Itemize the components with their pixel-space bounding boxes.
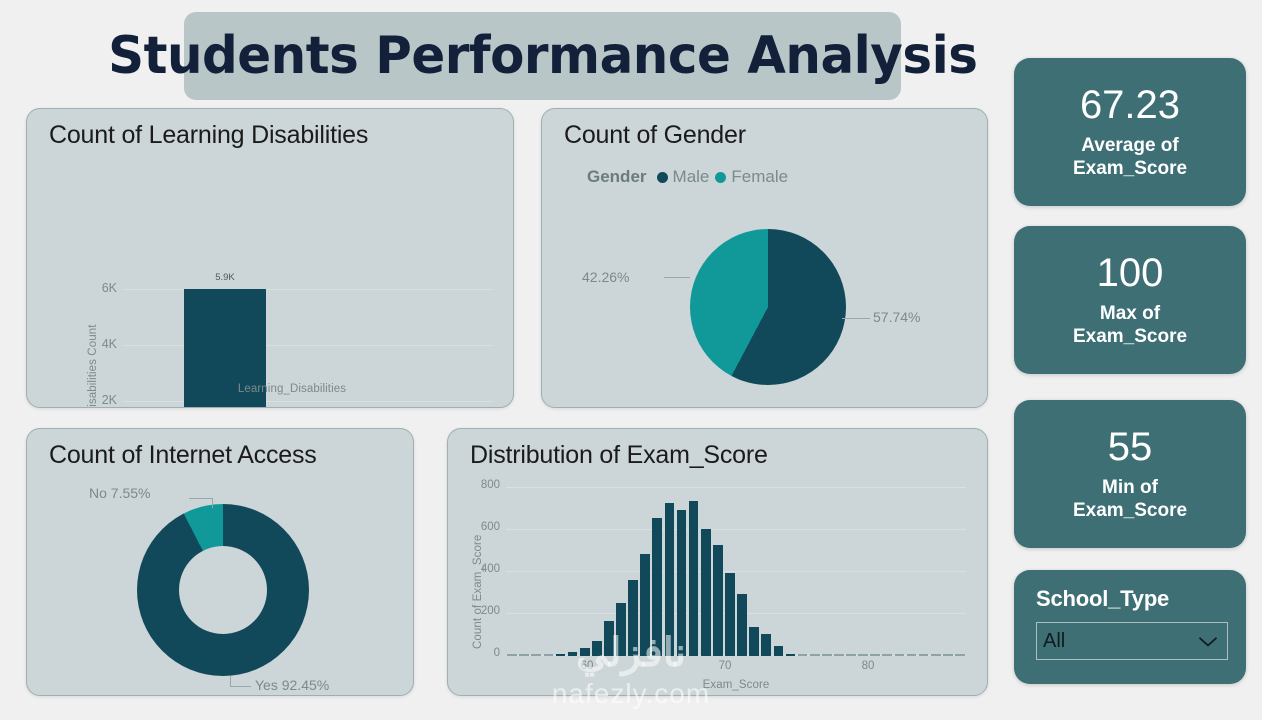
- histogram-bar[interactable]: [810, 654, 820, 656]
- slicer-field-label: School_Type: [1036, 586, 1228, 612]
- pie-data-label-male: 57.74%: [873, 309, 920, 325]
- legend-swatch-icon: [715, 172, 726, 183]
- leader-line: [230, 686, 251, 687]
- histogram-bar[interactable]: [556, 654, 566, 656]
- histogram-bar[interactable]: [713, 545, 723, 656]
- donut-hole: [179, 546, 267, 634]
- slicer-school-type[interactable]: School_Type All: [1014, 570, 1246, 684]
- y-tick: 400: [458, 563, 500, 575]
- pie-chart-graphic[interactable]: [690, 229, 846, 385]
- kpi-label-line1: Min of: [1073, 476, 1187, 499]
- legend-swatch-icon: [657, 172, 668, 183]
- histogram-bar[interactable]: [568, 652, 578, 656]
- legend-title: Gender: [587, 167, 647, 187]
- histogram-bar[interactable]: [701, 529, 711, 656]
- x-tick: 60: [567, 660, 607, 672]
- histogram-bar[interactable]: [628, 580, 638, 656]
- histogram-bar[interactable]: [580, 648, 590, 656]
- y-tick: 0: [458, 647, 500, 659]
- leader-line: [664, 277, 690, 278]
- legend-label: Female: [731, 167, 788, 187]
- gridline: [123, 345, 493, 346]
- kpi-label: Max of Exam_Score: [1073, 302, 1187, 348]
- histogram-bar[interactable]: [870, 654, 880, 656]
- histogram-bar[interactable]: [919, 654, 929, 656]
- kpi-value: 55: [1108, 426, 1153, 468]
- y-tick: 600: [458, 521, 500, 533]
- histogram-bar[interactable]: [774, 646, 784, 656]
- leader-line: [842, 318, 870, 319]
- report-title-banner: Students Performance Analysis: [184, 12, 901, 100]
- kpi-label-line1: Average of: [1073, 134, 1187, 157]
- x-axis-title: Exam_Score: [506, 679, 966, 691]
- histogram-bar[interactable]: [798, 654, 808, 656]
- histogram-bar[interactable]: [834, 654, 844, 656]
- bar-data-label: 5.9K: [184, 272, 266, 283]
- y-axis-title: Count of Exam_Score: [472, 535, 484, 649]
- histogram-bar[interactable]: [519, 654, 529, 656]
- x-tick: 70: [705, 660, 745, 672]
- visual-exam-score-histogram[interactable]: Distribution of Exam_Score Count of Exam…: [447, 428, 988, 696]
- legend-item-female[interactable]: Female: [715, 167, 788, 187]
- histogram-bar[interactable]: [846, 654, 856, 656]
- histogram-bar[interactable]: [531, 654, 541, 656]
- slicer-dropdown[interactable]: All: [1036, 622, 1228, 660]
- kpi-label: Average of Exam_Score: [1073, 134, 1187, 180]
- chart-title: Distribution of Exam_Score: [470, 441, 768, 470]
- histogram-bar[interactable]: [652, 518, 662, 656]
- histogram-bar[interactable]: [665, 503, 675, 656]
- chart-title: Count of Internet Access: [49, 441, 317, 470]
- x-axis-title: Learning_Disabilities: [157, 383, 427, 395]
- legend-label: Male: [673, 167, 710, 187]
- legend: Gender Male Female: [587, 167, 788, 187]
- leader-line: [212, 498, 213, 508]
- histogram-bar[interactable]: [604, 621, 614, 656]
- histogram-bar[interactable]: [943, 654, 953, 656]
- page-title: Students Performance Analysis: [108, 26, 977, 86]
- histogram-bar[interactable]: [616, 603, 626, 656]
- histogram-bar[interactable]: [544, 654, 554, 656]
- histogram-bar[interactable]: [507, 654, 517, 656]
- histogram-bar[interactable]: [858, 654, 868, 656]
- donut-data-label-no: No 7.55%: [89, 485, 150, 501]
- gridline: [123, 401, 493, 402]
- histogram-bar[interactable]: [931, 654, 941, 656]
- histogram-bar[interactable]: [737, 594, 747, 656]
- histogram-bars[interactable]: [506, 487, 966, 656]
- histogram-bar[interactable]: [882, 654, 892, 656]
- legend-item-male[interactable]: Male: [657, 167, 710, 187]
- gridline: [123, 289, 493, 290]
- slicer-selected-value: All: [1043, 630, 1065, 653]
- histogram-bar[interactable]: [689, 501, 699, 656]
- kpi-label: Min of Exam_Score: [1073, 476, 1187, 522]
- histogram-bar[interactable]: [592, 641, 602, 656]
- y-tick: 4K: [73, 337, 117, 351]
- chevron-down-icon[interactable]: [1197, 635, 1219, 647]
- visual-gender-pie-chart[interactable]: Count of Gender Gender Male Female 57.74…: [541, 108, 988, 408]
- chart-title: Count of Gender: [564, 121, 746, 150]
- donut-data-label-yes: Yes 92.45%: [255, 677, 329, 693]
- histogram-bar[interactable]: [895, 654, 905, 656]
- histogram-bar[interactable]: [955, 654, 965, 656]
- visual-learning-disabilities-bar-chart[interactable]: Count of Learning Disabilities Learning …: [26, 108, 514, 408]
- chart-title: Count of Learning Disabilities: [49, 121, 368, 150]
- x-tick: 80: [848, 660, 888, 672]
- y-tick: 800: [458, 479, 500, 491]
- y-tick: 2K: [73, 393, 117, 407]
- histogram-bar[interactable]: [749, 627, 759, 656]
- report-canvas: Students Performance Analysis Count of L…: [0, 0, 1262, 720]
- kpi-card-min-exam-score[interactable]: 55 Min of Exam_Score: [1014, 400, 1246, 548]
- kpi-card-average-exam-score[interactable]: 67.23 Average of Exam_Score: [1014, 58, 1246, 206]
- kpi-value: 100: [1097, 252, 1164, 294]
- leader-line: [189, 498, 213, 499]
- kpi-label-line1: Max of: [1073, 302, 1187, 325]
- kpi-label-line2: Exam_Score: [1073, 157, 1187, 180]
- histogram-bar[interactable]: [677, 510, 687, 656]
- histogram-bar[interactable]: [725, 573, 735, 656]
- kpi-label-line2: Exam_Score: [1073, 325, 1187, 348]
- kpi-card-max-exam-score[interactable]: 100 Max of Exam_Score: [1014, 226, 1246, 374]
- pie-data-label-female: 42.26%: [582, 269, 629, 285]
- histogram-bar[interactable]: [640, 554, 650, 656]
- kpi-label-line2: Exam_Score: [1073, 499, 1187, 522]
- kpi-value: 67.23: [1080, 84, 1180, 126]
- visual-internet-access-donut-chart[interactable]: Count of Internet Access No 7.55% Yes 92…: [26, 428, 414, 696]
- y-tick: 200: [458, 605, 500, 617]
- histogram-bar[interactable]: [786, 654, 796, 656]
- histogram-bar[interactable]: [822, 654, 832, 656]
- histogram-bar[interactable]: [761, 634, 771, 656]
- histogram-bar[interactable]: [907, 654, 917, 656]
- y-tick: 6K: [73, 281, 117, 295]
